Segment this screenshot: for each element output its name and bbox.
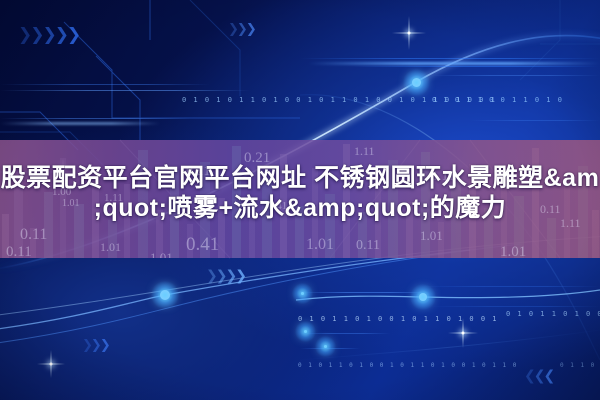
headline-line-1: 股票配资平台官网平台网址 不锈钢圆环水景雕塑&am [0,163,600,193]
promo-banner: 0 1 0 1 1 0 0 1 1 0 1 00 1 0 1 0 1 1 0 1… [0,0,600,400]
headline: 股票配资平台官网平台网址 不锈钢圆环水景雕塑&am ;quot;喷雾+流水&am… [0,163,600,223]
headline-line-2: ;quot;喷雾+流水&amp;quot;的魔力 [0,193,600,223]
